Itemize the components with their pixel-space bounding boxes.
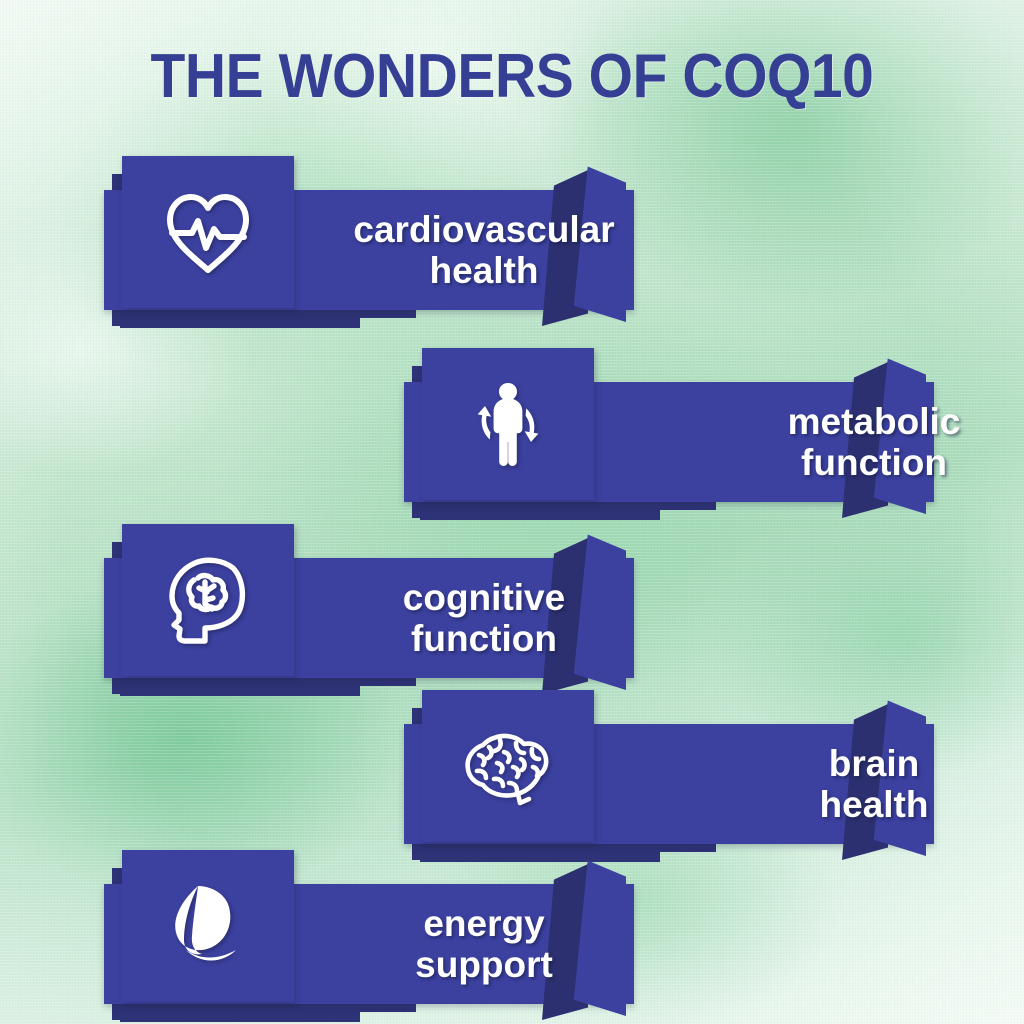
- icon-plate: [422, 348, 594, 500]
- metabolism-body-arrows-icon: [422, 348, 594, 500]
- head-brain-profile-icon: [122, 524, 294, 676]
- banner-cognitive-function[interactable]: cognitive function: [104, 514, 634, 704]
- leaf-icon: [122, 850, 294, 1002]
- page-title: THE WONDERS OF COQ10: [41, 46, 983, 108]
- banner-energy-support[interactable]: energy support: [104, 840, 634, 1024]
- icon-plate: [122, 156, 294, 308]
- brain-icon: [422, 690, 594, 842]
- heart-pulse-icon: [122, 156, 294, 308]
- banner-cardiovascular-health[interactable]: cardiovascular health: [104, 146, 634, 336]
- infographic-canvas: THE WONDERS OF COQ10 cardiovascular heal…: [0, 0, 1024, 1024]
- icon-plate: [122, 850, 294, 1002]
- icon-plate: [122, 524, 294, 676]
- banner-metabolic-function[interactable]: metabolic function: [404, 338, 934, 528]
- icon-plate: [422, 690, 594, 842]
